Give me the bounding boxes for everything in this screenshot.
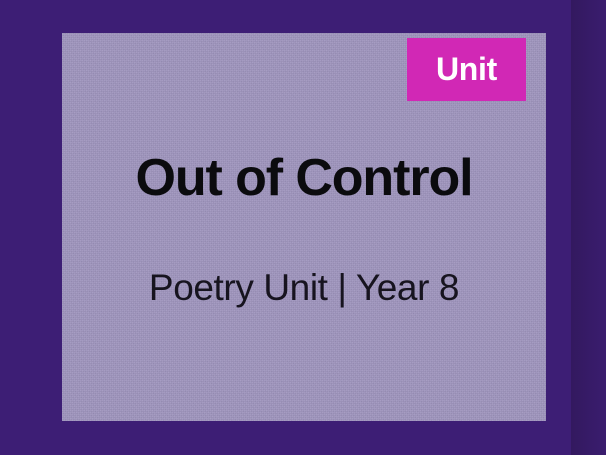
page-subtitle: Poetry Unit | Year 8	[149, 268, 459, 309]
title-card: Unit Out of Control Poetry Unit | Year 8	[62, 33, 546, 421]
slide-canvas: Unit Out of Control Poetry Unit | Year 8	[0, 0, 606, 455]
unit-badge-label: Unit	[436, 53, 497, 87]
right-edge-shadow-band	[571, 0, 606, 455]
page-title: Out of Control	[136, 151, 473, 206]
unit-badge: Unit	[407, 38, 526, 101]
